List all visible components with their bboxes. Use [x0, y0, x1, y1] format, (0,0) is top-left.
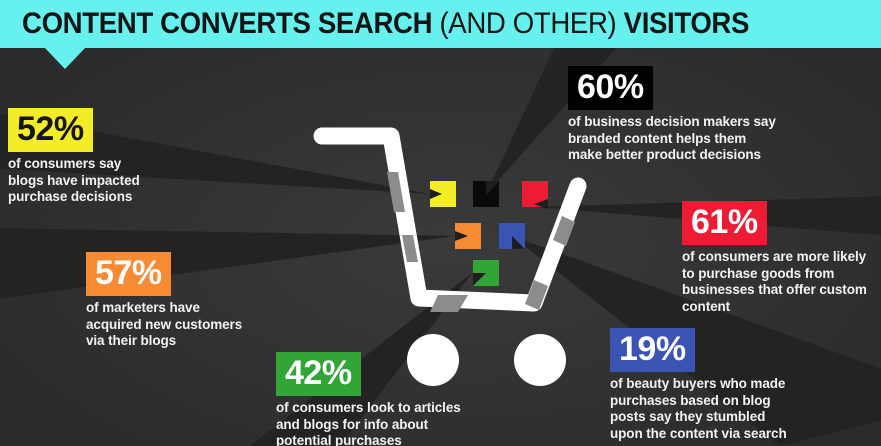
stat-block-19[interactable]: 19% of beauty buyers who made purchases …: [610, 328, 787, 442]
page-title-part-2: (AND OTHER): [439, 7, 623, 40]
stat-block-60[interactable]: 60% of business decision makers say bran…: [568, 66, 776, 164]
page-title-part-1: CONTENT CONVERTS SEARCH: [22, 7, 439, 40]
stat-block-57[interactable]: 57% of marketers have acquired new custo…: [86, 252, 242, 350]
stat-badge-52: 52%: [8, 108, 93, 152]
cart-wheel-right: [514, 334, 566, 386]
stat-badge-42: 42%: [276, 352, 361, 396]
stat-description-42: of consumers look to articles and blogs …: [276, 400, 461, 446]
stat-description-19: of beauty buyers who made purchases base…: [610, 376, 787, 442]
stat-badge-61: 61%: [682, 201, 767, 245]
page-title-part-3: VISITORS: [624, 7, 749, 40]
stat-block-61[interactable]: 61% of consumers are more likely to purc…: [682, 201, 867, 315]
stat-description-52: of consumers say blogs have impacted pur…: [8, 156, 140, 206]
header-pointer-notch: [45, 48, 85, 69]
stat-badge-60: 60%: [568, 66, 653, 110]
infographic-canvas: CONTENT CONVERTS SEARCH (AND OTHER) VISI…: [0, 0, 881, 446]
stat-description-60: of business decision makers say branded …: [568, 114, 776, 164]
header-banner: CONTENT CONVERTS SEARCH (AND OTHER) VISI…: [0, 0, 881, 48]
stat-badge-19: 19%: [610, 328, 695, 372]
page-title: CONTENT CONVERTS SEARCH (AND OTHER) VISI…: [22, 6, 749, 42]
stat-description-57: of marketers have acquired new customers…: [86, 300, 242, 350]
stat-block-42[interactable]: 42% of consumers look to articles and bl…: [276, 352, 461, 446]
stat-badge-57: 57%: [86, 252, 171, 296]
stat-block-52[interactable]: 52% of consumers say blogs have impacted…: [8, 108, 140, 206]
stat-description-61: of consumers are more likely to purchase…: [682, 249, 867, 315]
